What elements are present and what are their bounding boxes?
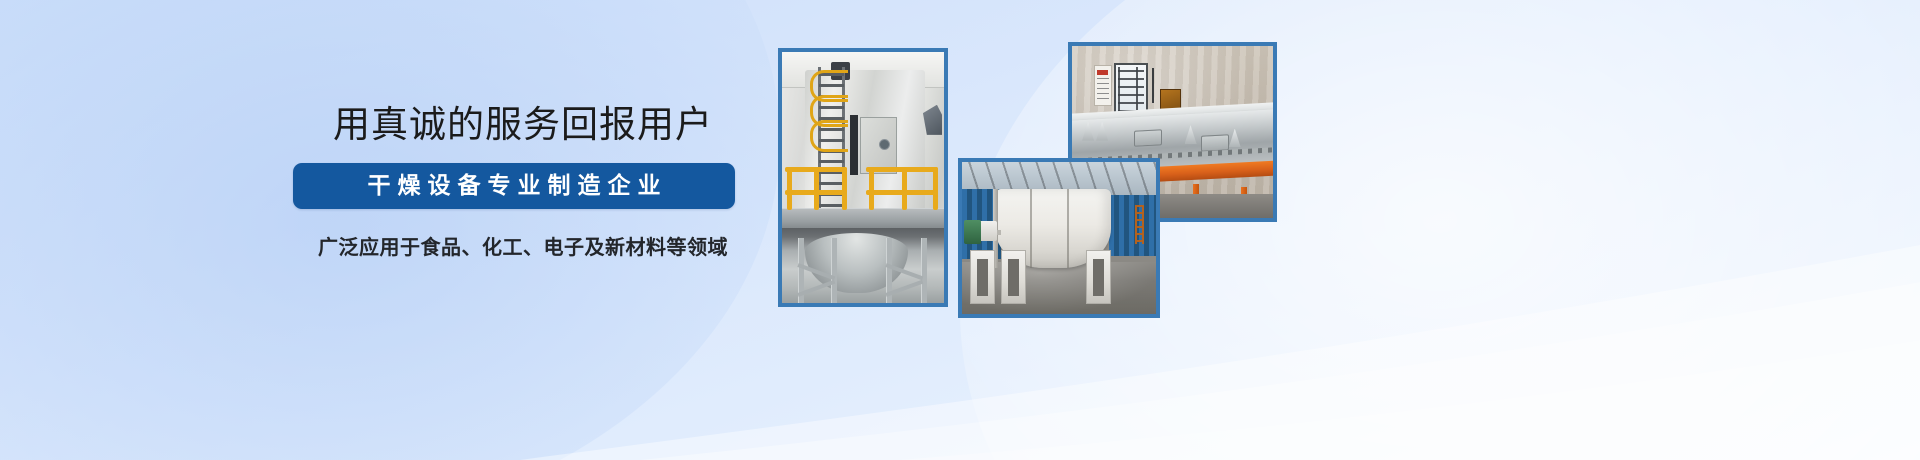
- banner-text-block: 用真诚的服务回报用户 干燥设备专业制造企业 广泛应用于食品、化工、电子及新材料等…: [293, 104, 753, 260]
- tower-dark-slot: [850, 115, 858, 175]
- tower-platform: [782, 208, 944, 229]
- mixer-vessel-seam: [1030, 189, 1032, 268]
- tower-access-door: [860, 117, 898, 174]
- banner-tagline: 广泛应用于食品、化工、电子及新材料等领域: [293, 231, 753, 260]
- mixer-coupling-guard: [979, 221, 996, 241]
- orange-ladder: [1135, 205, 1145, 245]
- mixer-vessel-seam: [1067, 189, 1069, 268]
- mixer-support-pedestal: [1086, 250, 1111, 304]
- wall-conduit: [1152, 68, 1154, 102]
- photo-ribbon-mixer-image: [962, 162, 1156, 314]
- tower-guardrail-post: [933, 167, 938, 210]
- tower-ladder-hoop: [810, 120, 849, 152]
- banner-headline: 用真诚的服务回报用户: [293, 104, 753, 147]
- blue-wall-panel-right: [1109, 195, 1156, 256]
- tower-guardrail-post: [842, 167, 847, 210]
- photo-ribbon-mixer: [958, 158, 1160, 318]
- photo-spray-dryer-tower: [778, 48, 948, 307]
- tower-guardrail-post: [814, 167, 819, 210]
- mixer-support-pedestal: [1001, 250, 1026, 304]
- wall-notice-sign: [1094, 65, 1112, 107]
- tower-guardrail-post: [787, 167, 792, 210]
- tower-support-leg: [831, 238, 837, 303]
- mixer-drive-motor: [964, 220, 981, 244]
- dryer-inspection-hatch: [1134, 129, 1162, 146]
- banner-pill-label: 干燥设备专业制造企业: [293, 163, 735, 209]
- hero-banner: 用真诚的服务回报用户 干燥设备专业制造企业 广泛应用于食品、化工、电子及新材料等…: [0, 0, 1920, 460]
- photo-spray-dryer-tower-image: [782, 52, 944, 303]
- tower-guardrail-post: [902, 167, 907, 210]
- tower-support-leg: [921, 238, 927, 303]
- mixer-support-pedestal: [970, 250, 995, 304]
- tower-guardrail-post: [869, 167, 874, 210]
